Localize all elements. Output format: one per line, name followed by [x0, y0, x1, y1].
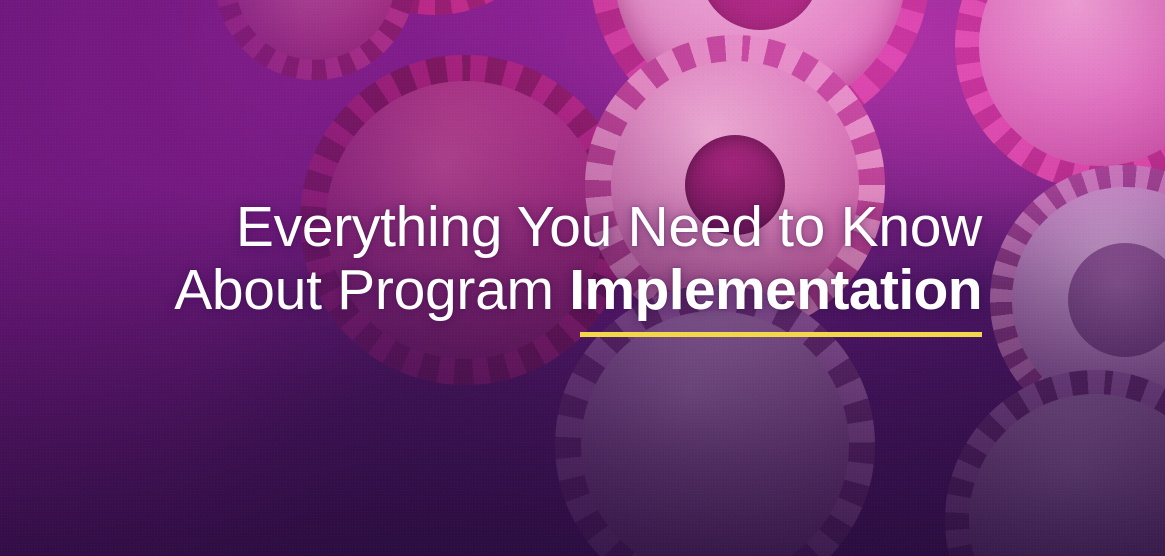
headline-emphasis-implementation: Implementation	[569, 258, 982, 322]
headline-block: Everything You Need to Know About Progra…	[174, 196, 982, 337]
headline-underline-accent	[580, 332, 982, 337]
hero-banner: Everything You Need to Know About Progra…	[0, 0, 1165, 556]
headline-line-1: Everything You Need to Know	[174, 196, 982, 259]
headline-line-2: About Program Implementation	[174, 259, 982, 322]
headline-line-2-normal: About Program	[174, 258, 569, 322]
